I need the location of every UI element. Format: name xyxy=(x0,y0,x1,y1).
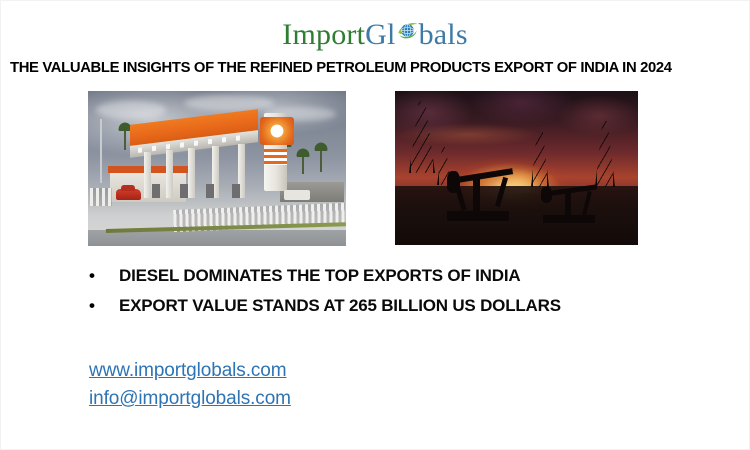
canopy-pillar xyxy=(188,148,195,198)
drilling-derrick xyxy=(409,101,435,173)
bullet-list: • DIESEL DOMINATES THE TOP EXPORTS OF IN… xyxy=(89,265,689,325)
logo-text-globals-pre: Gl xyxy=(365,20,395,50)
brand-logo: ImportGl bals xyxy=(1,19,749,50)
indian-oil-logo-icon xyxy=(260,117,294,145)
canopy-pillar xyxy=(166,150,173,198)
globe-icon xyxy=(396,19,419,42)
palm-tree xyxy=(302,154,304,174)
red-car-roof xyxy=(121,185,135,191)
bullet-marker-icon: • xyxy=(89,265,119,287)
pumpjack-post xyxy=(473,175,480,213)
slide-canvas: ImportGl bals THE VALUABLE INSIGHTS OF T… xyxy=(0,0,750,450)
fuel-pump xyxy=(180,184,188,198)
contact-links: www.importglobals.com info@importglobals… xyxy=(89,357,291,413)
website-link[interactable]: www.importglobals.com xyxy=(89,357,291,385)
boundary-fence-left xyxy=(90,188,112,206)
oil-field-ground xyxy=(395,186,638,245)
petrol-station-photo xyxy=(88,91,346,246)
bullet-text: DIESEL DOMINATES THE TOP EXPORTS OF INDI… xyxy=(119,265,520,287)
drilling-derrick xyxy=(531,125,549,187)
fuel-pump xyxy=(232,184,240,198)
drilling-derrick xyxy=(595,121,615,187)
fuel-pump xyxy=(152,184,160,198)
pumpjack-horsehead xyxy=(541,187,552,203)
cloud-shape xyxy=(184,95,274,111)
bullet-text: EXPORT VALUE STANDS AT 265 BILLION US DO… xyxy=(119,295,561,317)
list-item: • EXPORT VALUE STANDS AT 265 BILLION US … xyxy=(89,295,689,317)
logo-text-globals-post: bals xyxy=(419,20,468,50)
cloud-shape xyxy=(96,101,166,119)
bullet-marker-icon: • xyxy=(89,295,119,317)
list-item: • DIESEL DOMINATES THE TOP EXPORTS OF IN… xyxy=(89,265,689,287)
fuel-pump xyxy=(206,184,214,198)
oil-rigs-photo xyxy=(395,91,638,245)
palm-tree xyxy=(124,128,126,150)
light-pole xyxy=(100,119,102,183)
logo-text-import: Import xyxy=(282,20,365,50)
palm-tree xyxy=(320,148,322,172)
white-vehicle xyxy=(284,190,310,200)
canopy-pillar xyxy=(144,152,151,198)
pylon-stripes xyxy=(264,149,287,165)
email-link[interactable]: info@importglobals.com xyxy=(89,385,291,413)
page-title: THE VALUABLE INSIGHTS OF THE REFINED PET… xyxy=(10,59,724,76)
